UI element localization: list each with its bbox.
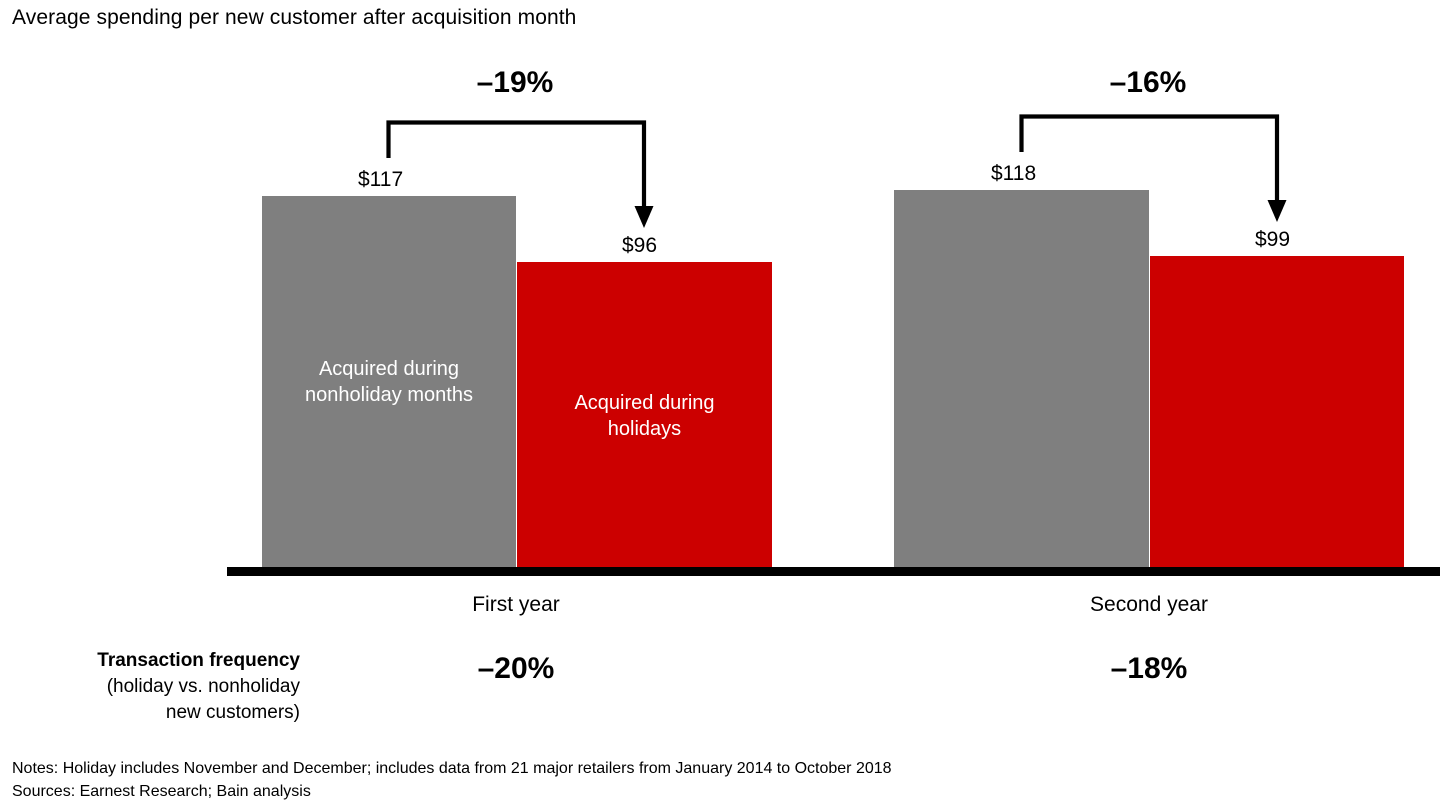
transaction-frequency-value-first-year: –20% [416,652,616,686]
bar-inner-label-holiday: Acquired during holidays [517,390,772,442]
footnote-notes: Notes: Holiday includes November and Dec… [12,757,892,780]
bar-value-label-first-year-nonholiday: $117 [358,168,403,192]
transaction-frequency-title: Transaction frequency [0,648,300,674]
group-label-second-year: Second year [1049,593,1249,617]
footnotes: Notes: Holiday includes November and Dec… [12,757,892,803]
delta-label-first-year: –19% [415,66,615,100]
bar-first-year-nonholiday[interactable]: Acquired during nonholiday months [262,196,516,567]
bar-value-label-second-year-holiday: $99 [1255,228,1290,252]
footnote-sources: Sources: Earnest Research; Bain analysis [12,780,892,803]
bar-value-label-second-year-nonholiday: $118 [991,162,1036,186]
group-label-first-year: First year [416,593,616,617]
delta-label-second-year: –16% [1048,66,1248,100]
chart-plot-area: –19% $117 $96 Acquired during nonholiday… [0,0,1440,580]
bar-second-year-holiday[interactable] [1150,256,1404,567]
transaction-frequency-row-label: Transaction frequency (holiday vs. nonho… [0,648,300,726]
bar-inner-label-nonholiday: Acquired during nonholiday months [262,356,516,408]
transaction-frequency-subtitle-line1: (holiday vs. nonholiday [0,674,300,700]
transaction-frequency-value-second-year: –18% [1049,652,1249,686]
bar-first-year-holiday[interactable]: Acquired during holidays [517,262,772,567]
axis-baseline [227,567,1440,576]
transaction-frequency-subtitle-line2: new customers) [0,700,300,726]
bar-second-year-nonholiday[interactable] [894,190,1149,567]
bar-value-label-first-year-holiday: $96 [622,234,657,258]
